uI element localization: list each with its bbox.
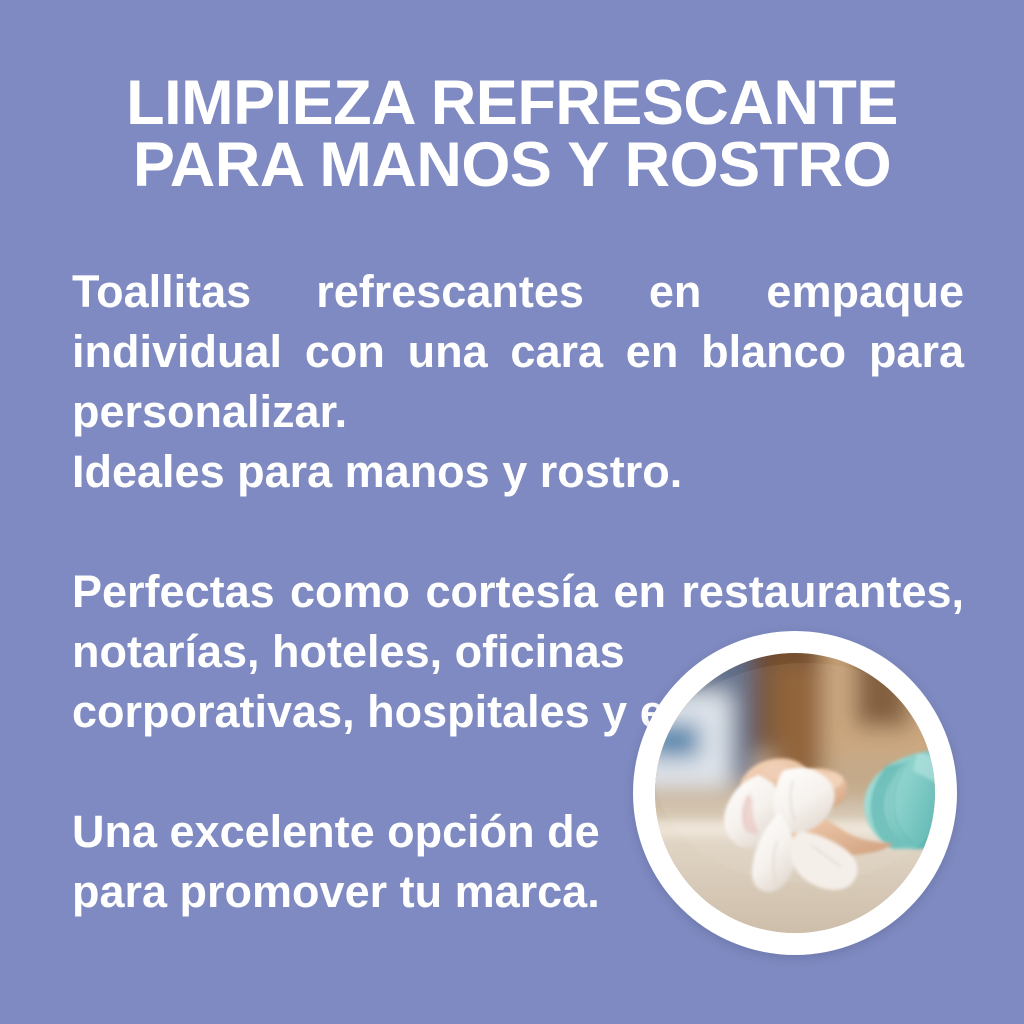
paragraph-branding: Una excelente opción de para promover tu…	[72, 802, 632, 922]
page-title-line-1: LIMPIEZA REFRESCANTE	[0, 72, 1024, 134]
page-title: LIMPIEZA REFRESCANTE PARA MANOS Y ROSTRO	[0, 72, 1024, 196]
paragraph-1-text: Toallitas refrescantes en empaque indivi…	[72, 266, 964, 437]
paragraph-1-last-line: Ideales para manos y rostro.	[72, 442, 964, 502]
hands-with-wipe-illustration	[655, 653, 935, 933]
product-photo-circle	[633, 631, 957, 955]
paragraph-product-description: Toallitas refrescantes en empaque indivi…	[72, 262, 964, 502]
page-title-line-2: PARA MANOS Y ROSTRO	[0, 134, 1024, 196]
product-photo	[655, 653, 935, 933]
paragraph-3-line-2: para promover tu marca.	[72, 862, 632, 922]
promo-poster: LIMPIEZA REFRESCANTE PARA MANOS Y ROSTRO…	[0, 0, 1024, 1024]
paragraph-3-line-1: Una excelente opción de	[72, 802, 632, 862]
